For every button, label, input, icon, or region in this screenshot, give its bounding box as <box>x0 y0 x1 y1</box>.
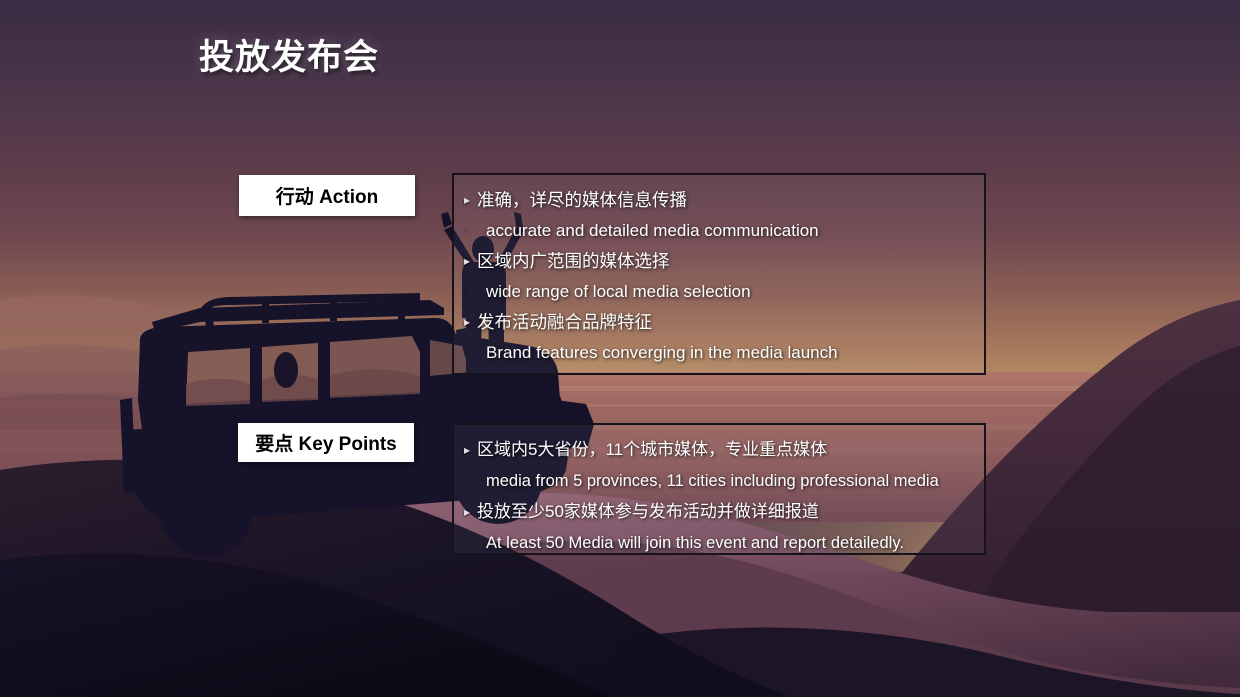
presentation-slide: 投放发布会 行动 Action ▸ 准确，详尽的媒体信息传播 · accurat… <box>0 0 1240 697</box>
bullet-row: · wide range of local media selection <box>464 276 970 307</box>
bullet-spacer: · <box>464 215 477 245</box>
bullet-row: ▸ 区域内5大省份，11个城市媒体，专业重点媒体 <box>464 435 970 465</box>
bullet-triangle-icon: ▸ <box>464 185 477 215</box>
bullet-triangle-icon: ▸ <box>464 307 477 337</box>
bullet-triangle-icon: ▸ <box>464 246 477 276</box>
bullet-spacer: · <box>464 527 477 557</box>
content-panel-key-points: ▸ 区域内5大省份，11个城市媒体，专业重点媒体 · media from 5 … <box>452 423 986 555</box>
bullet-row: · Brand features converging in the media… <box>464 337 970 368</box>
section-label-key-points-text: 要点 Key Points <box>255 429 396 456</box>
content-panel-action: ▸ 准确，详尽的媒体信息传播 · accurate and detailed m… <box>452 173 986 375</box>
bullet-row: ▸ 区域内广范围的媒体选择 <box>464 246 970 276</box>
bullet-text-cn: 发布活动融合品牌特征 <box>477 307 652 337</box>
bullet-text-cn: 区域内广范围的媒体选择 <box>477 246 670 276</box>
section-label-key-points: 要点 Key Points <box>238 423 414 462</box>
section-label-action-text: 行动 Action <box>276 182 378 209</box>
bullet-spacer: · <box>464 337 477 367</box>
bullet-text-cn: 区域内5大省份，11个城市媒体，专业重点媒体 <box>477 435 827 465</box>
bullet-triangle-icon: ▸ <box>464 435 477 465</box>
bullet-row: ▸ 发布活动融合品牌特征 <box>464 307 970 337</box>
bullet-row: · media from 5 provinces, 11 cities incl… <box>464 465 970 497</box>
bullet-row: · At least 50 Media will join this event… <box>464 527 970 559</box>
bullet-row: ▸ 准确，详尽的媒体信息传播 <box>464 185 970 215</box>
bullet-text-en: media from 5 provinces, 11 cities includ… <box>477 465 939 497</box>
bullet-text-cn: 准确，详尽的媒体信息传播 <box>477 185 687 215</box>
bullet-text-en: wide range of local media selection <box>477 276 751 307</box>
bullet-spacer: · <box>464 276 477 306</box>
bullet-spacer: · <box>464 465 477 495</box>
bullet-text-en: At least 50 Media will join this event a… <box>477 527 904 559</box>
bullet-row: · accurate and detailed media communicat… <box>464 215 970 246</box>
bullet-triangle-icon: ▸ <box>464 497 477 527</box>
bullet-text-en: accurate and detailed media communicatio… <box>477 215 819 246</box>
bullet-row: ▸ 投放至少50家媒体参与发布活动并做详细报道 <box>464 497 970 527</box>
slide-title: 投放发布会 <box>199 29 379 80</box>
section-label-action: 行动 Action <box>239 175 415 216</box>
bullet-text-en: Brand features converging in the media l… <box>477 337 838 368</box>
bullet-text-cn: 投放至少50家媒体参与发布活动并做详细报道 <box>477 497 819 527</box>
